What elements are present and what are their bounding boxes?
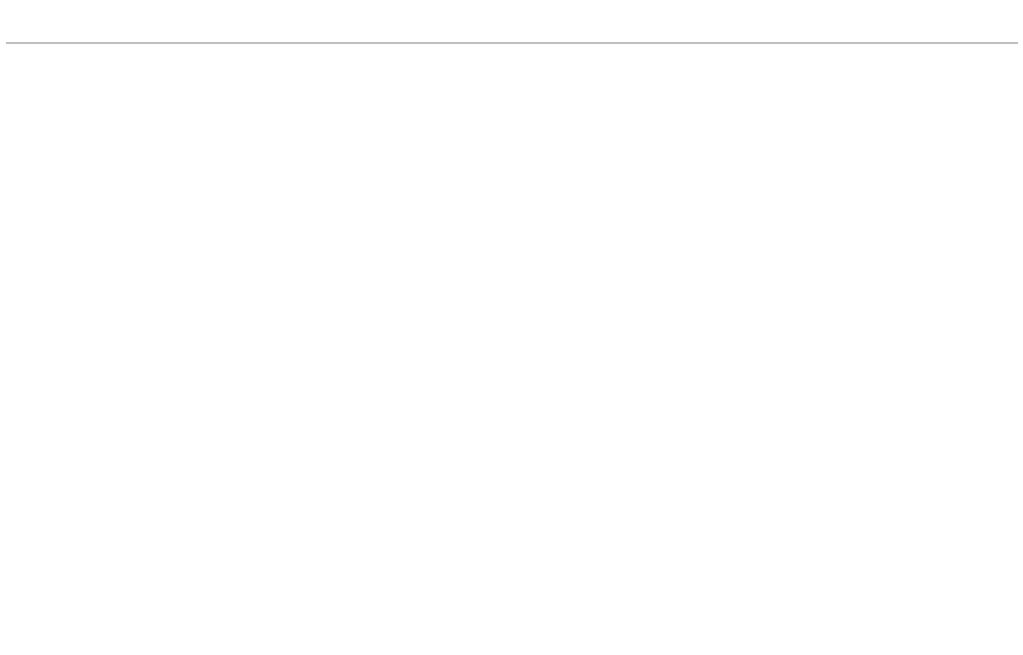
title-divider [6,42,1018,44]
timeseries-bars [48,418,1006,586]
bulls-minus-bears-timeseries-chart [0,418,1023,655]
title-bar [0,0,1023,46]
sentiment-group-bar-chart [0,46,1023,396]
